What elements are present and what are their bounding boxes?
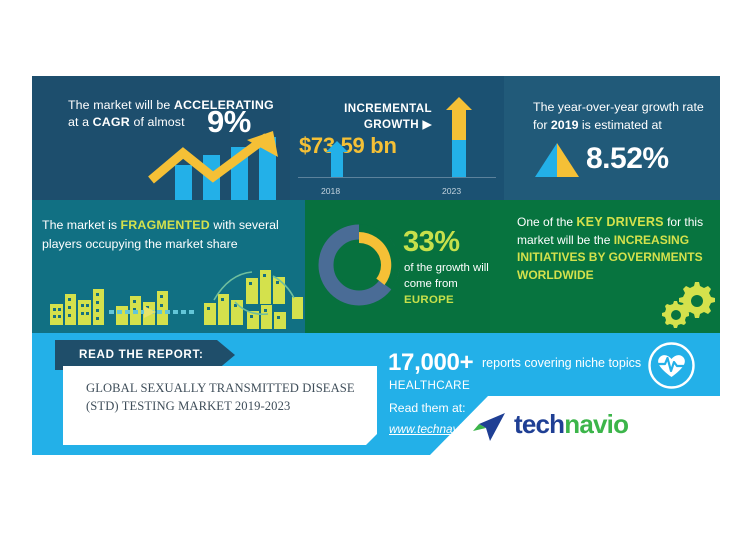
triangle-growth-icon — [535, 143, 579, 177]
donut-chart-icon — [313, 219, 405, 311]
europe-sub-line2: come from — [404, 278, 458, 290]
footer-band: READ THE REPORT: GLOBAL SEXUALLY TRANSMI… — [32, 333, 720, 455]
cagr-line1-pre: The market will be — [68, 98, 174, 112]
row-middle: The market is FRAGMENTED with several pl… — [32, 200, 720, 333]
technavio-wordmark: technavio — [514, 409, 628, 440]
europe-region-label: EUROPE — [404, 294, 454, 306]
panel-incremental-growth: INCREMENTAL GROWTH ▶ $73.59 bn — [290, 76, 504, 200]
yoy-year: 2019 — [551, 118, 579, 132]
yoy-line2-post: is estimated at — [578, 118, 661, 132]
bar-chart-growth-arrow-icon — [147, 131, 297, 200]
technavio-paper-plane-icon — [473, 413, 505, 441]
caret-right-icon: ▶ — [423, 118, 432, 131]
fragmented-highlight: FRAGMENTED — [121, 218, 210, 232]
incremental-label-line2: GROWTH — [364, 118, 419, 131]
read-the-report-label: READ THE REPORT: — [79, 348, 204, 361]
panel-yoy-growth: The year-over-year growth rate for 2019 … — [504, 76, 720, 200]
yoy-line1: The year-over-year growth rate — [533, 100, 704, 114]
incremental-growth-label: INCREMENTAL GROWTH ▶ — [302, 101, 432, 132]
fragmented-description: The market is FRAGMENTED with several pl… — [42, 216, 298, 253]
cagr-line2-bold: CAGR — [93, 115, 130, 129]
read-them-at-label: Read them at: — [389, 401, 466, 415]
europe-sub-line1: of the growth will — [404, 262, 489, 274]
key-drivers-highlight: KEY DRIVERS — [576, 215, 663, 229]
fragmented-pre: The market is — [42, 218, 121, 232]
bar-2018-icon — [326, 141, 348, 177]
europe-percentage: 33% — [403, 226, 460, 259]
panel-europe-share: 33% of the growth will come from EUROPE — [305, 200, 490, 333]
year-label-start: 2018 — [321, 186, 340, 196]
city-buildings-distribution-icon — [36, 264, 304, 329]
report-title-card[interactable]: GLOBAL SEXUALLY TRANSMITTED DISEASE (STD… — [63, 366, 377, 445]
cagr-line2-post: of almost — [130, 115, 185, 129]
read-the-report-ribbon: READ THE REPORT: — [55, 340, 235, 370]
panel-fragmented: The market is FRAGMENTED with several pl… — [32, 200, 305, 333]
bar-2023-icon — [446, 97, 472, 177]
year-axis-line — [298, 177, 496, 178]
year-label-end: 2023 — [442, 186, 461, 196]
logo-text-navio: navio — [564, 409, 628, 439]
reports-count: 17,000+ — [388, 349, 473, 377]
yoy-line2-pre: for — [533, 118, 551, 132]
yoy-value: 8.52% — [586, 142, 669, 176]
report-title: GLOBAL SEXUALLY TRANSMITTED DISEASE (STD… — [86, 379, 371, 415]
sector-label: HEALTHCARE — [389, 379, 470, 392]
panel-cagr: The market will be ACCELERATING at a CAG… — [32, 76, 290, 200]
reports-caption: reports covering niche topics — [482, 356, 641, 370]
logo-text-tech: tech — [514, 409, 564, 439]
yoy-description: The year-over-year growth rate for 2019 … — [533, 99, 708, 134]
panel-key-drivers: One of the KEY DRIVERS for this market w… — [490, 200, 720, 333]
infographic-canvas: The market will be ACCELERATING at a CAG… — [0, 0, 750, 536]
infographic-body: The market will be ACCELERATING at a CAG… — [32, 57, 720, 455]
key-drivers-description: One of the KEY DRIVERS for this market w… — [517, 214, 713, 284]
gears-icon — [659, 280, 714, 328]
incremental-label-line1: INCREMENTAL — [344, 102, 432, 115]
heart-pulse-icon — [647, 341, 696, 390]
technavio-logo-plate: technavio — [430, 396, 720, 455]
europe-description: of the growth will come from EUROPE — [404, 260, 494, 308]
row-top: The market will be ACCELERATING at a CAG… — [32, 76, 720, 200]
cagr-line2-pre: at a — [68, 115, 93, 129]
key-drivers-pre: One of the — [517, 215, 576, 229]
